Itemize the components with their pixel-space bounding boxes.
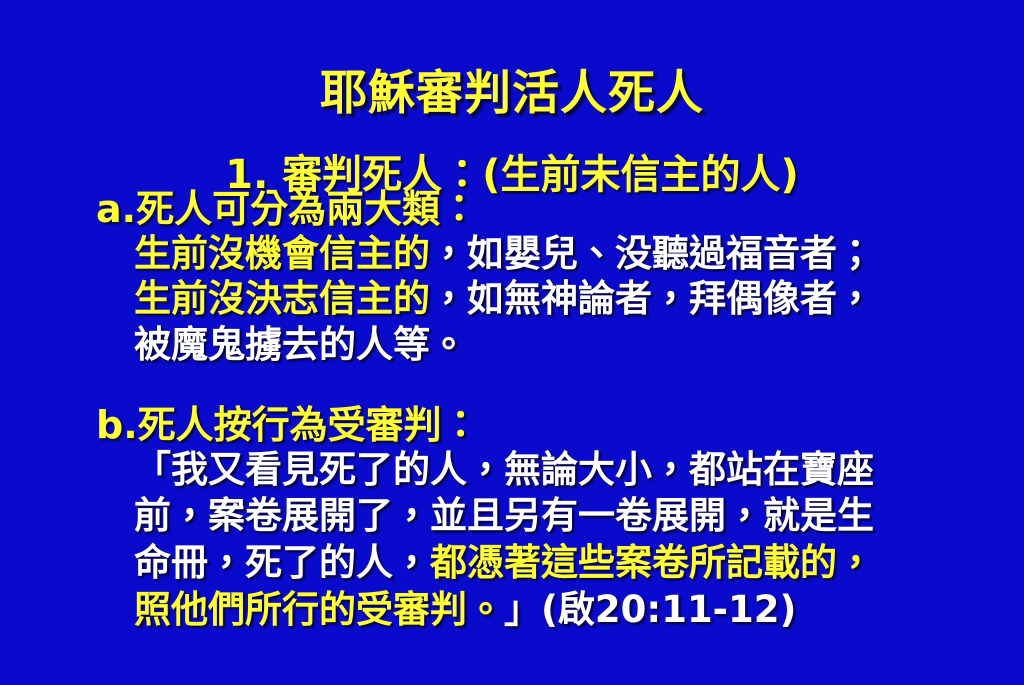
text-segment: 生前沒機會信主的 [134,232,430,275]
section-a: a.死人可分為兩大類： 生前沒機會信主的，如嬰兒、没聽過福音者；生前沒決志信主的… [96,188,1016,368]
section-b: b.死人按行為受審判： 「我又看見死了的人，無論大小，都站在寶座前，案卷展開了，… [96,404,1016,634]
text-segment: 照他們所行的受審判。 [134,588,504,631]
text-segment: 都憑著這些案卷所記載的， [430,541,874,584]
text-segment: 生前沒決志信主的 [134,277,430,320]
section-b-line: 照他們所行的受審判。」(啟20:11-12) [134,587,1016,634]
section-b-line: 「我又看見死了的人，無論大小，都站在寶座 [134,447,1016,494]
section-a-line: 生前沒機會信主的，如嬰兒、没聽過福音者； [134,231,1016,277]
section-b-line: 前，案卷展開了，並且另有一卷展開，就是生 [134,493,1016,540]
page-title: 耶穌審判活人死人 [0,69,1024,118]
text-segment: 前，案卷展開了，並且另有一卷展開，就是生 [134,494,874,537]
text-segment: ，如嬰兒、没聽過福音者； [430,232,874,275]
presentation-slide: 耶穌審判活人死人 1. 審判死人：(生前未信主的人) a.死人可分為兩大類： 生… [0,0,1024,685]
section-a-heading: a.死人可分為兩大類： [96,188,1016,231]
text-segment: 被魔鬼擄去的人等。 [134,323,467,366]
section-b-line: 命冊，死了的人，都憑著這些案卷所記載的， [134,540,1016,587]
text-segment: 命冊，死了的人， [134,541,430,584]
section-a-line: 被魔鬼擄去的人等。 [134,322,1016,368]
section-a-line: 生前沒決志信主的，如無神論者，拜偶像者， [134,276,1016,322]
text-segment: 「我又看見死了的人，無論大小，都站在寶座 [134,448,874,491]
section-a-body: 生前沒機會信主的，如嬰兒、没聽過福音者；生前沒決志信主的，如無神論者，拜偶像者，… [134,231,1016,369]
text-segment: ，如無神論者，拜偶像者， [430,277,874,320]
section-b-body: 「我又看見死了的人，無論大小，都站在寶座前，案卷展開了，並且另有一卷展開，就是生… [134,447,1016,634]
section-b-heading: b.死人按行為受審判： [96,404,1016,447]
text-segment: 」(啟20:11-12) [504,588,796,631]
